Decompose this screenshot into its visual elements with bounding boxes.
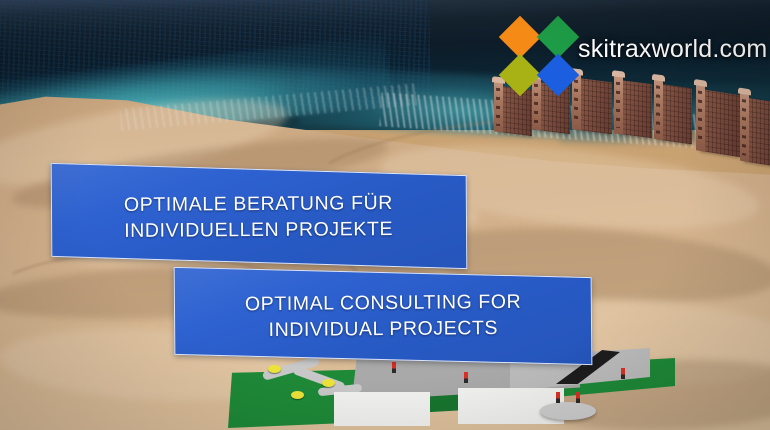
marker-dot — [291, 391, 304, 399]
tower-spine — [696, 82, 705, 151]
tower-spine — [740, 91, 749, 162]
logo-diamond-orange-icon — [499, 16, 541, 58]
logo-diamond-green-icon — [537, 16, 579, 58]
skitraxworld-logo[interactable] — [502, 18, 578, 94]
brand-domain-text[interactable]: skitraxworld.com — [578, 35, 767, 64]
tower-spine — [654, 77, 663, 140]
logo-diamond-olive-icon — [499, 54, 541, 96]
tower-spine — [614, 73, 623, 134]
facility-building-left — [334, 392, 430, 426]
banner-german: OPTIMALE BERATUNG FÜR INDIVIDUELLEN PROJ… — [51, 163, 468, 269]
person-figure — [392, 362, 396, 373]
coastal-tower — [576, 78, 612, 134]
banner-english: OPTIMAL CONSULTING FOR INDIVIDUAL PROJEC… — [174, 267, 593, 365]
person-figure — [556, 392, 560, 403]
marker-dot — [268, 365, 281, 373]
coastal-tower — [658, 84, 692, 145]
coastal-tower — [700, 89, 740, 157]
screenshot-canvas: skitraxworld.com OPTIMALE BERATUNG FÜR I… — [0, 0, 770, 430]
coastal-tower — [618, 80, 652, 138]
marker-dot — [322, 379, 335, 387]
banner-english-text: OPTIMAL CONSULTING FOR INDIVIDUAL PROJEC… — [245, 290, 522, 344]
viewing-podium — [540, 402, 596, 420]
person-figure — [576, 392, 580, 403]
coastal-tower — [744, 97, 770, 166]
person-figure — [464, 372, 468, 383]
banner-german-text: OPTIMALE BERATUNG FÜR INDIVIDUELLEN PROJ… — [124, 191, 393, 244]
logo-diamond-blue-icon — [537, 54, 579, 96]
person-figure — [621, 368, 625, 379]
